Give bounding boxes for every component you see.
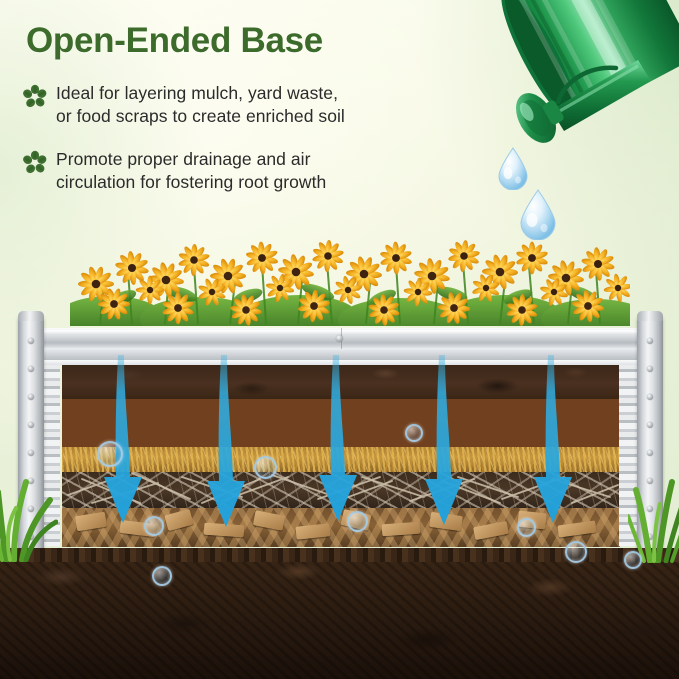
water-bubble	[624, 551, 642, 569]
water-bubble	[565, 541, 587, 563]
clover-flower-icon	[22, 150, 48, 176]
infographic-canvas: Open-Ended Base	[0, 0, 679, 679]
water-bubble	[405, 424, 423, 442]
list-item-line2: circulation for fostering root growth	[56, 171, 326, 194]
page-title: Open-Ended Base	[26, 22, 456, 59]
drainage-arrow	[104, 355, 572, 527]
list-item-line1: Promote proper drainage and air	[56, 148, 326, 171]
water-bubble	[347, 511, 368, 532]
water-bubble	[144, 516, 164, 536]
list-item: Promote proper drainage and air circulat…	[22, 148, 452, 195]
water-bubble	[97, 441, 123, 467]
black-eyed-susan-flowers	[70, 224, 630, 326]
water-bubble	[254, 456, 277, 479]
rail-screw	[336, 335, 343, 342]
post-cap	[18, 311, 44, 321]
water-bubble	[517, 518, 536, 537]
clover-flower-icon	[22, 84, 48, 110]
list-item-line1: Ideal for layering mulch, yard waste,	[56, 82, 345, 105]
post-cap	[637, 311, 663, 321]
water-bubble	[152, 566, 172, 586]
feature-list: Ideal for layering mulch, yard waste, or…	[22, 82, 452, 214]
list-item-text: Ideal for layering mulch, yard waste, or…	[56, 82, 345, 129]
list-item-text: Promote proper drainage and air circulat…	[56, 148, 326, 195]
list-item: Ideal for layering mulch, yard waste, or…	[22, 82, 452, 129]
list-item-line2: or food scraps to create enriched soil	[56, 105, 345, 128]
